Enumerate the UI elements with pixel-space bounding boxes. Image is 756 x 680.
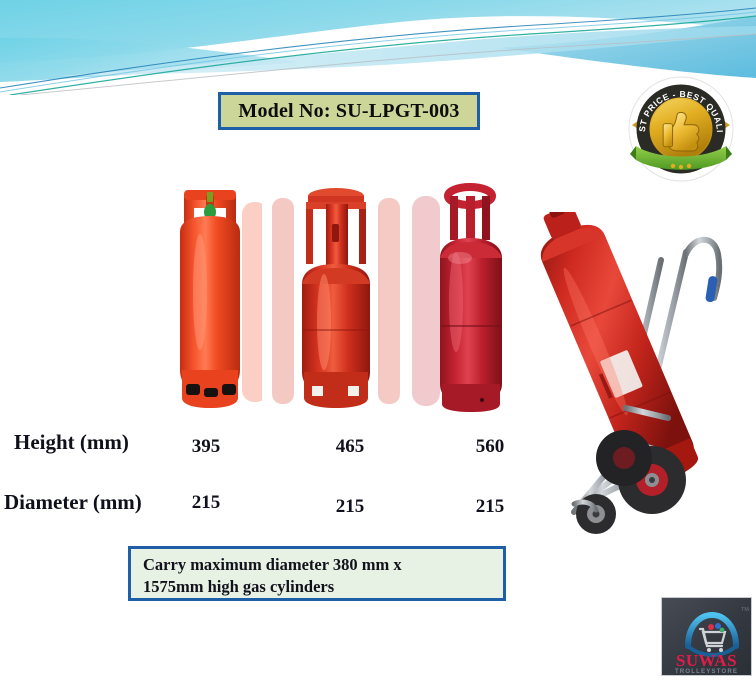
best-price-best-quality-badge: BEST PRICE - BEST QUALITY [628, 76, 734, 182]
diameter-value-3: 215 [460, 496, 520, 518]
gas-cylinder-trolley-photo [518, 212, 750, 542]
height-value-2: 465 [320, 436, 380, 458]
diameter-value-2: 215 [320, 496, 380, 518]
cylinder-photo-3 [410, 172, 516, 424]
cylinder-photo-2 [272, 172, 400, 424]
height-value-3: 560 [460, 436, 520, 458]
spec-row-height: Height (mm) 395 465 560 [0, 428, 530, 462]
model-number-banner: Model No: SU-LPGT-003 [218, 92, 480, 130]
caption-line-2: 1575mm high gas cylinders [143, 576, 493, 598]
spec-label-height: Height (mm) [14, 430, 129, 455]
brand-tagline-text: TROLLEYSTORE [675, 668, 738, 675]
height-value-1: 395 [176, 436, 236, 458]
product-spec-sheet: Model No: SU-LPGT-003 [0, 0, 756, 680]
suwas-trolleystore-logo: TM SUWAS TROLLEYSTORE [661, 597, 752, 676]
caption-line-1: Carry maximum diameter 380 mm x [143, 554, 493, 576]
spec-label-diameter: Diameter (mm) [4, 490, 142, 515]
trademark-mark: TM [741, 607, 749, 613]
cylinder-photo-1 [160, 172, 262, 424]
diameter-value-1: 215 [176, 492, 236, 514]
spec-row-diameter: Diameter (mm) 215 215 215 [0, 488, 530, 522]
capacity-caption-box: Carry maximum diameter 380 mm x 1575mm h… [128, 546, 506, 601]
trolley-wheel-inner [596, 430, 652, 486]
model-number-text: Model No: SU-LPGT-003 [238, 100, 459, 123]
